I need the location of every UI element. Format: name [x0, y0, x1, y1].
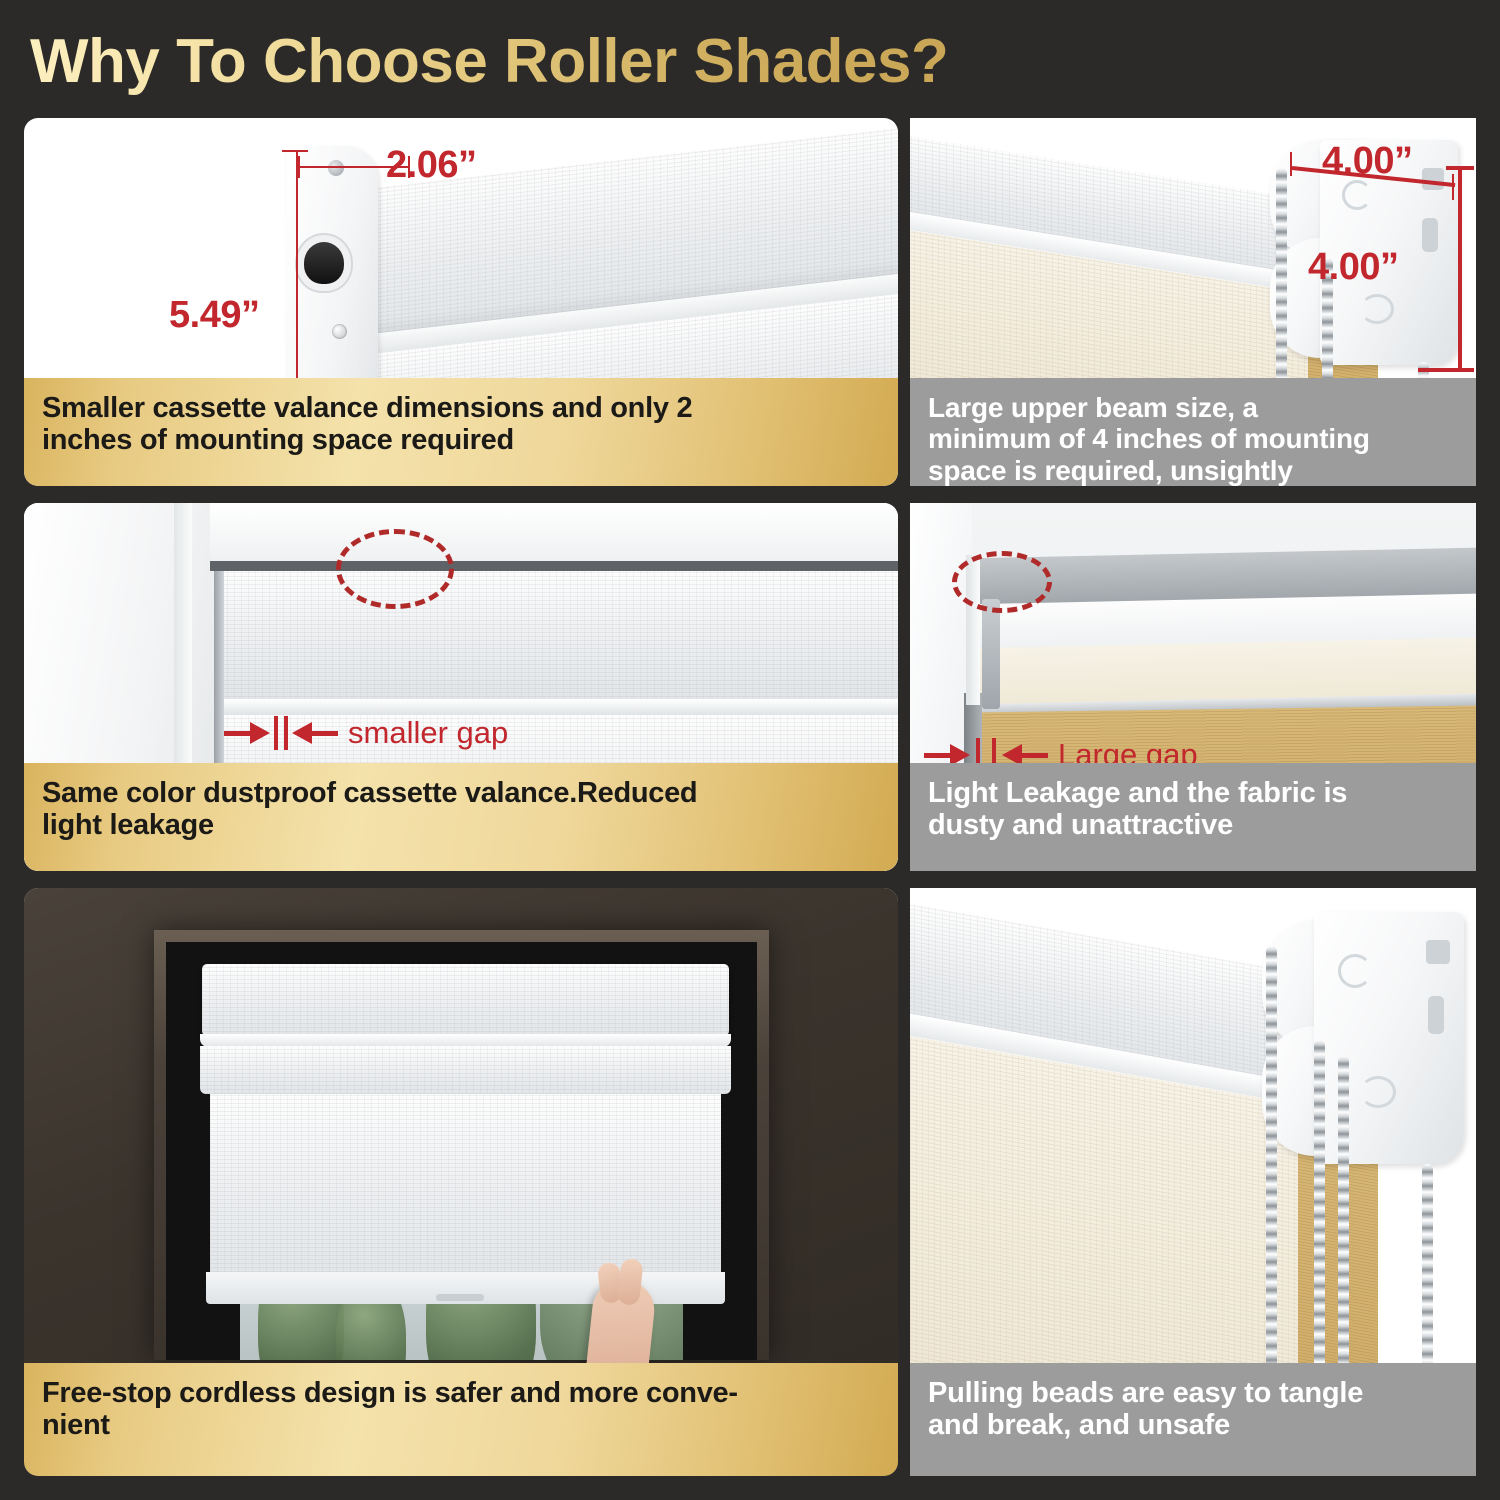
panel-3-caption: Same color dustproof cassette valance.Re… [24, 763, 898, 871]
beam-height-dimension-label: 4.00” [1308, 246, 1398, 289]
beads-bracket-hole-1 [1426, 940, 1450, 964]
beads-bracket-arrow-icon-2 [1360, 1076, 1396, 1108]
large-gap-arrow-stem-left [924, 753, 950, 758]
panel-pulling-beads-unsafe: Pulling beads are easy to tangle and bre… [910, 888, 1476, 1476]
page-title: Why To Choose Roller Shades? [30, 20, 1030, 102]
panel-free-stop-cordless-design: Free-stop cordless design is safer and m… [24, 888, 898, 1476]
end-cap-slot [304, 242, 344, 284]
valance-top-shadow-line [210, 561, 898, 571]
cassette-valance-lip [220, 699, 898, 715]
width-dimension-tick-left [298, 156, 300, 178]
panel-1-caption: Smaller cassette valance dimensions and … [24, 378, 898, 486]
comparison-grid: 2.06” 5.49” Smaller cassette valance dim… [24, 118, 1476, 1476]
window-frame [154, 930, 769, 1360]
beam-height-tick-top [1446, 166, 1474, 170]
panel-6-caption: Pulling beads are easy to tangle and bre… [910, 1363, 1476, 1476]
panel-light-leakage-dusty-fabric: Large gap Light Leakage and the fabric i… [910, 503, 1476, 871]
width-dimension-label: 2.06” [386, 144, 476, 187]
end-cap-top-screw-icon [328, 160, 344, 176]
smaller-gap-annotation: smaller gap [224, 715, 508, 751]
gap-arrow-stem-right [312, 731, 338, 736]
beam-height-tick-bottom [1418, 368, 1474, 372]
gap-arrow-right-icon [250, 722, 270, 744]
beads-bracket-hole-2 [1428, 996, 1444, 1034]
cassette-valance-face [220, 571, 898, 701]
gap-arrow-stem-left [224, 731, 250, 736]
end-cap-screw-icon [332, 324, 347, 339]
smaller-gap-label: smaller gap [348, 715, 508, 751]
cordless-shade-head [202, 964, 729, 1036]
panel-2-caption: Large upper beam size, a minimum of 4 in… [910, 378, 1476, 486]
beam-width-tick-right [1452, 174, 1454, 200]
beads-bracket-arrow-icon-1 [1338, 954, 1372, 988]
gap-tick-left [274, 716, 278, 750]
panel-dustproof-cassette-valance: smaller gap Same color dustproof cassett… [24, 503, 898, 871]
light-leak-highlight-circle [952, 551, 1052, 613]
shade-grip-handle[interactable] [436, 1294, 484, 1301]
window-inner [166, 942, 757, 1360]
window-casing-head [210, 503, 898, 565]
beam-width-tick-left [1290, 152, 1292, 176]
gap-arrow-left-icon [292, 722, 312, 744]
cordless-shade-body [210, 1094, 721, 1280]
gap-tick-right [284, 716, 288, 750]
panel-cassette-valance-dimensions: 2.06” 5.49” Smaller cassette valance dim… [24, 118, 898, 486]
beam-bracket-stub [982, 599, 1000, 709]
height-dimension-label: 5.49” [169, 294, 259, 337]
panel-large-upper-beam: 4.00” 4.00” Large upper beam size, a min… [910, 118, 1476, 486]
page-title-text: Why To Choose Roller Shades? [30, 26, 948, 97]
panel-4-caption: Light Leakage and the fabric is dusty an… [910, 763, 1476, 871]
large-gap-arrow-stem-right [1022, 753, 1048, 758]
beam-width-dimension-label: 4.00” [1322, 140, 1412, 183]
beam-height-dimension-line [1458, 166, 1462, 372]
height-dimension-tick-top [282, 150, 308, 152]
gap-highlight-circle [336, 529, 454, 609]
bracket-arrow-icon-2 [1360, 294, 1394, 324]
panel-5-caption: Free-stop cordless design is safer and m… [24, 1363, 898, 1476]
bracket-arrow-icon [1342, 180, 1372, 210]
bracket-hole-2 [1422, 218, 1438, 252]
cordless-shade-mid [200, 1046, 731, 1094]
hand-finger-2 [617, 1258, 644, 1306]
